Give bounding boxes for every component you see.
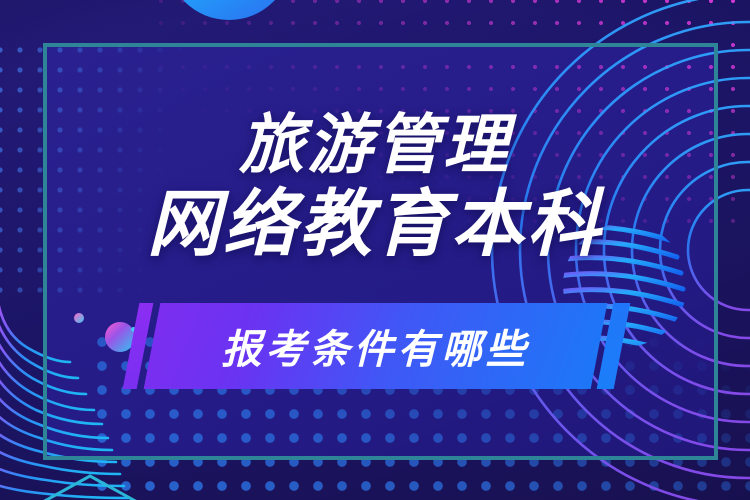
page-title: 旅游管理 网络教育本科 <box>0 112 750 263</box>
subtitle-band: 报考条件有哪些 <box>0 303 750 389</box>
headline-line-2: 网络教育本科 <box>0 188 750 262</box>
poster-banner: 旅游管理 网络教育本科 报考条件有哪些 <box>0 0 750 500</box>
subtitle-text: 报考条件有哪些 <box>152 303 599 389</box>
headline-line-1: 旅游管理 <box>0 112 750 178</box>
bottom-chevron-icon <box>28 470 178 500</box>
